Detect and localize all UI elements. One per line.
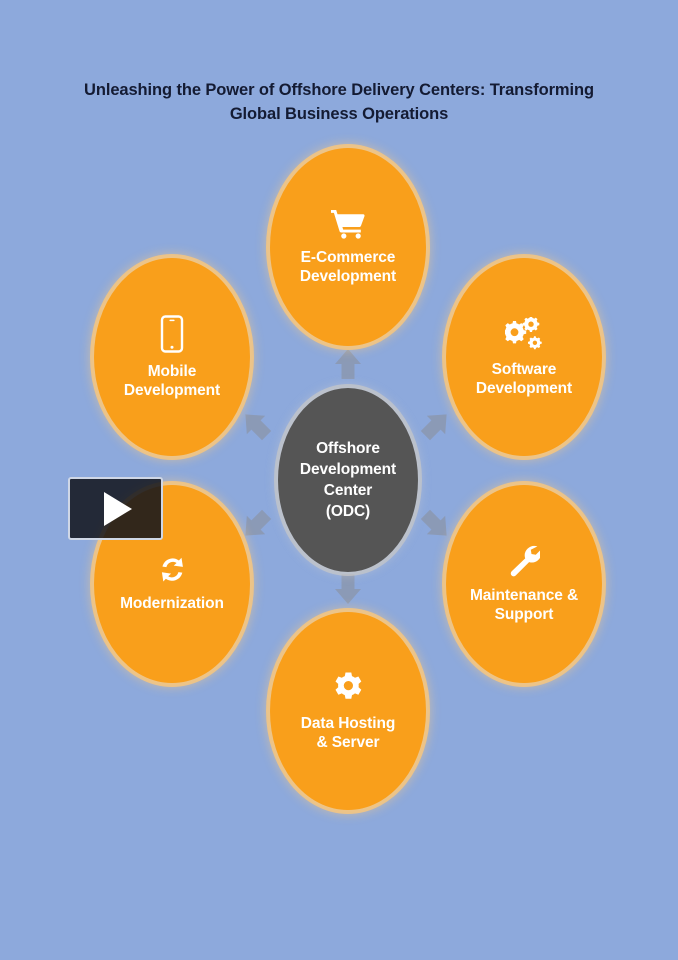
page-title: Unleashing the Power of Offshore Deliver… [60,78,618,126]
hub-offshore-development-center[interactable]: Offshore Development Center (ODC) [278,388,418,572]
shopping-cart-icon [330,208,366,239]
smartphone-icon [160,315,184,353]
node-maintenance-support[interactable]: Maintenance & Support [446,485,602,683]
gears-icon [505,317,543,351]
video-play-button[interactable] [68,477,163,540]
node-data-hosting-server-label: Data Hosting & Server [301,714,395,752]
wrench-icon [508,544,540,577]
refresh-sync-icon [156,555,189,585]
hub-label: Offshore Development Center (ODC) [300,438,396,522]
slide-canvas: Unleashing the Power of Offshore Deliver… [0,0,678,960]
play-triangle-icon [104,492,132,526]
node-software-development[interactable]: Software Development [446,258,602,456]
page-title-line-2: Global Business Operations [60,102,618,126]
node-maintenance-support-label: Maintenance & Support [470,586,578,624]
arrow-up-right-icon [412,401,460,449]
radial-diagram: E-Commerce Development [0,140,678,830]
node-modernization-label: Modernization [120,594,224,613]
node-software-development-label: Software Development [476,360,572,398]
node-ecommerce-development[interactable]: E-Commerce Development [270,148,426,346]
node-data-hosting-server[interactable]: Data Hosting & Server [270,612,426,810]
arrow-up-icon [331,347,365,381]
arrow-down-icon [331,572,365,606]
node-ecommerce-development-label: E-Commerce Development [300,248,396,286]
gear-icon [331,671,365,705]
page-title-line-1: Unleashing the Power of Offshore Deliver… [60,78,618,102]
node-mobile-development[interactable]: Mobile Development [94,258,250,456]
arrow-up-left-icon [232,401,280,449]
node-mobile-development-label: Mobile Development [124,362,220,400]
